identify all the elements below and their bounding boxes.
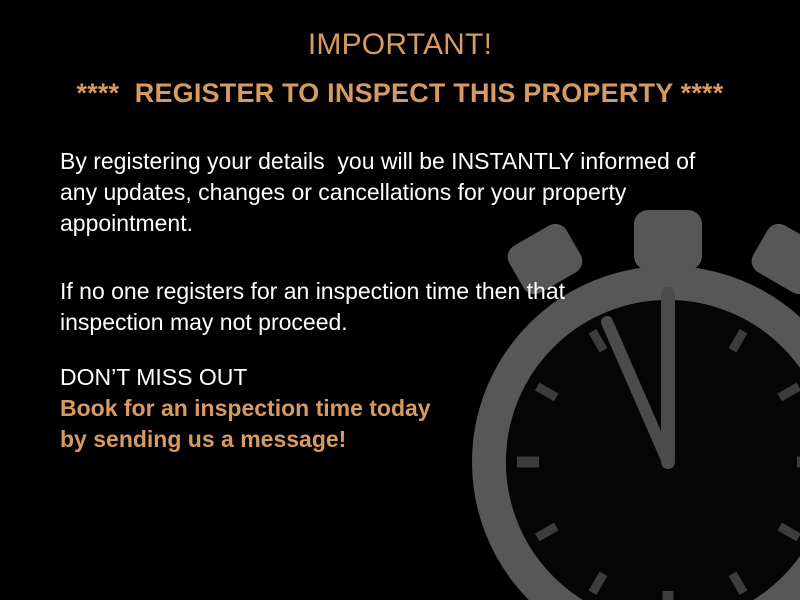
cta-book-inspection: Book for an inspection time today xyxy=(60,393,580,424)
promo-slide: IMPORTANT! **** REGISTER TO INSPECT THIS… xyxy=(0,0,800,600)
paragraph-no-one-registers: If no one registers for an inspection ti… xyxy=(60,276,620,338)
paragraph-registering-details: By registering your details you will be … xyxy=(60,146,720,239)
cta-dont-miss-out: DON’T MISS OUT xyxy=(60,362,580,393)
text-layer: IMPORTANT! **** REGISTER TO INSPECT THIS… xyxy=(0,0,800,600)
call-to-action-block: DON’T MISS OUT Book for an inspection ti… xyxy=(60,362,580,455)
cta-send-message: by sending us a message! xyxy=(60,424,580,455)
headline-important: IMPORTANT! xyxy=(0,28,800,62)
headline-register-to-inspect: **** REGISTER TO INSPECT THIS PROPERTY *… xyxy=(0,78,800,108)
